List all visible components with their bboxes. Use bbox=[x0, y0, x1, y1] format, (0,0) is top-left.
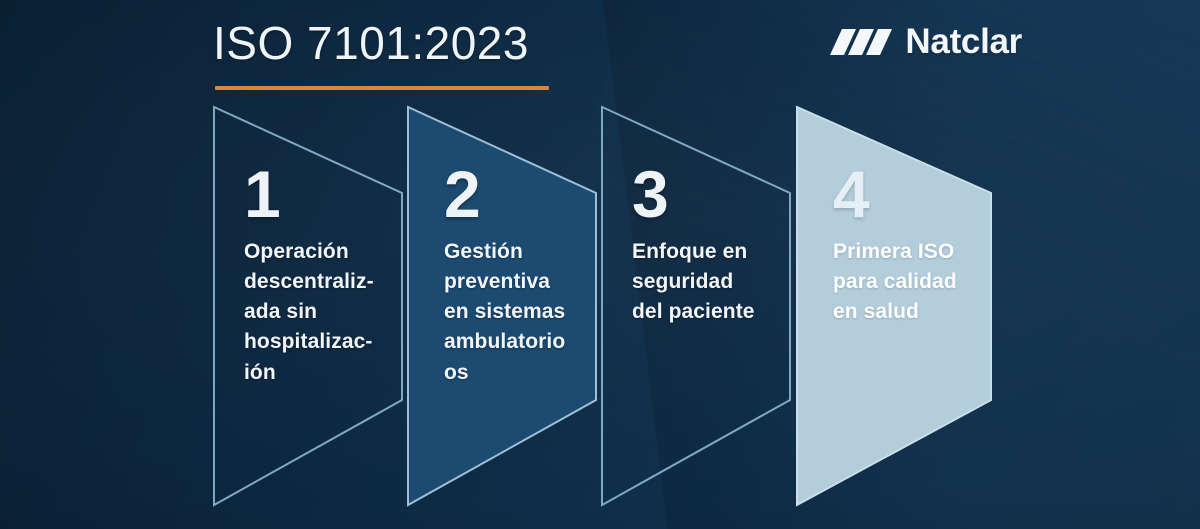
step-content-2: 2 Gestión preventiva en sistemas ambulat… bbox=[444, 162, 594, 388]
step-number: 2 bbox=[444, 162, 594, 227]
step-label: Enfoque en seguridad del paciente bbox=[632, 237, 782, 328]
page-title: ISO 7101:2023 bbox=[213, 20, 529, 66]
step-card-3[interactable]: 3 Enfoque en seguridad del paciente bbox=[598, 100, 810, 512]
step-number: 1 bbox=[244, 162, 394, 227]
step-number: 3 bbox=[632, 162, 782, 227]
step-card-4[interactable]: 4 Primera ISO para calidad en salud bbox=[793, 100, 1005, 512]
step-label: Gestión preventiva en sistemas ambulator… bbox=[444, 237, 594, 388]
step-content-3: 3 Enfoque en seguridad del paciente bbox=[632, 162, 782, 327]
step-content-4: 4 Primera ISO para calidad en salud bbox=[833, 162, 983, 327]
title-underline bbox=[215, 86, 549, 90]
three-slash-icon bbox=[830, 27, 892, 57]
infographic-canvas: ISO 7101:2023 Natclar 1 Operación descen… bbox=[0, 0, 1200, 529]
header: ISO 7101:2023 Natclar bbox=[0, 0, 1200, 100]
step-content-1: 1 Operación descentraliz- ada sin hospit… bbox=[244, 162, 394, 388]
step-label: Primera ISO para calidad en salud bbox=[833, 237, 983, 328]
steps-row: 1 Operación descentraliz- ada sin hospit… bbox=[0, 100, 1200, 515]
brand-name: Natclar bbox=[905, 24, 1022, 59]
step-card-1[interactable]: 1 Operación descentraliz- ada sin hospit… bbox=[210, 100, 422, 512]
step-card-2[interactable]: 2 Gestión preventiva en sistemas ambulat… bbox=[404, 100, 616, 512]
brand-logo: Natclar bbox=[830, 24, 1022, 59]
step-number: 4 bbox=[833, 162, 983, 227]
step-label: Operación descentraliz- ada sin hospital… bbox=[244, 237, 394, 388]
